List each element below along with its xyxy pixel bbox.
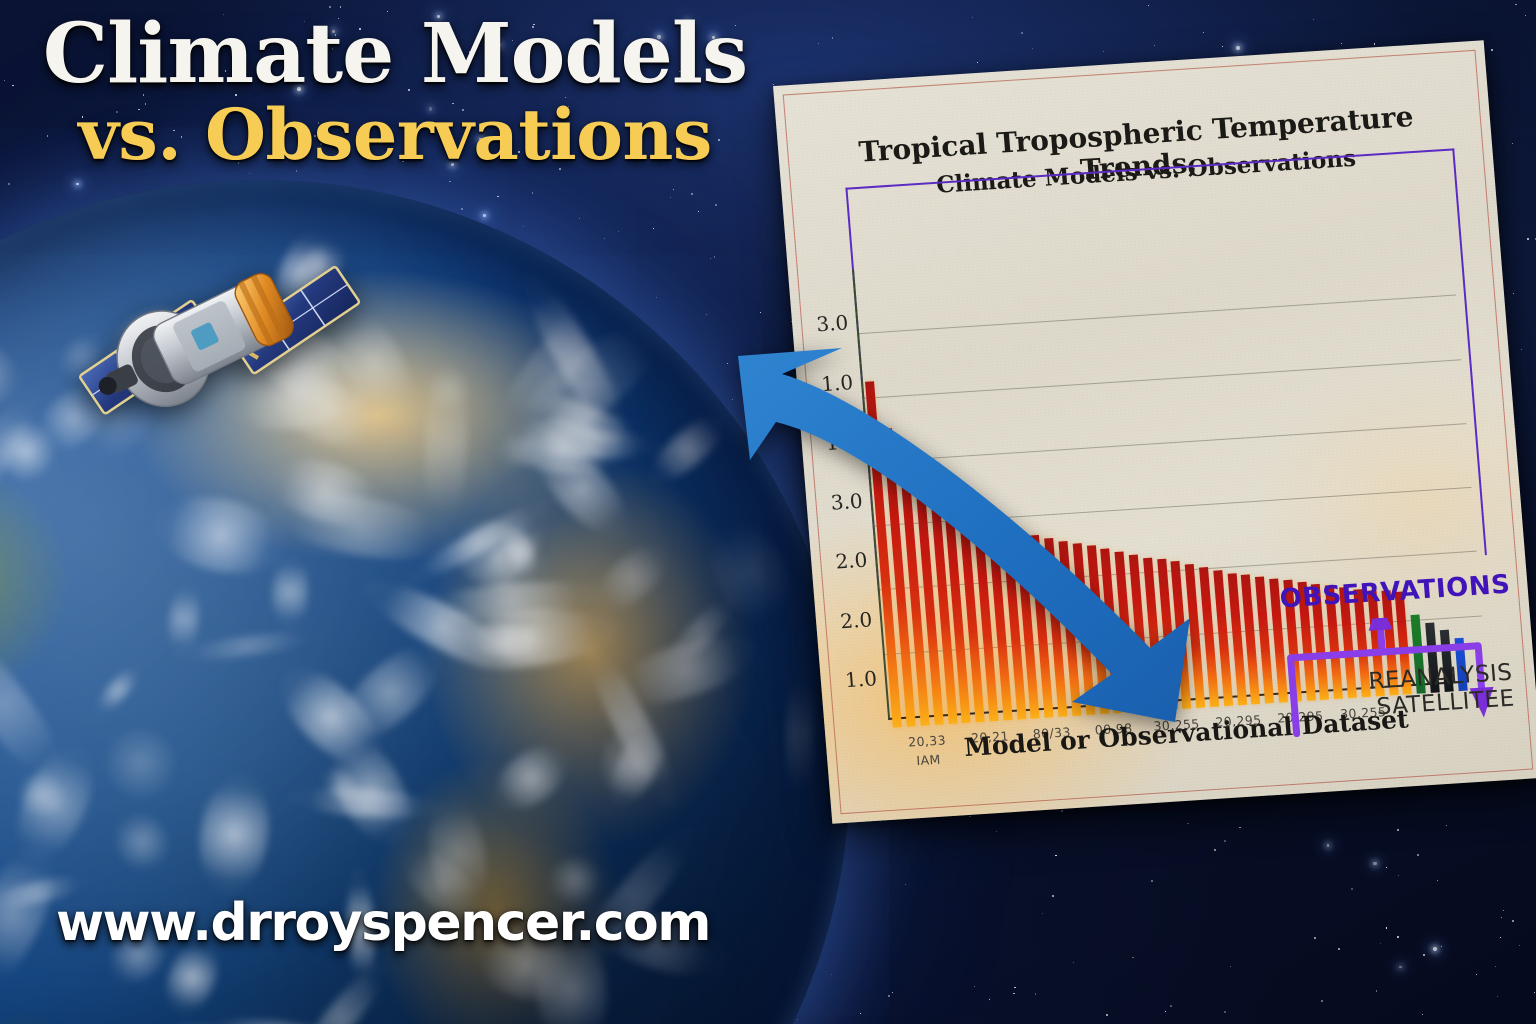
poster-headline: Climate Models vs. Observations bbox=[0, 14, 790, 172]
satellite-icon bbox=[62, 190, 362, 480]
poster-canvas: Climate Models vs. Observations www.drro… bbox=[0, 0, 1536, 1024]
right-dataset-labels: REANALYSIS SATELLITEE bbox=[1368, 660, 1516, 722]
website-url[interactable]: www.drroyspencer.com bbox=[56, 893, 710, 953]
headline-line-2: vs. Observations bbox=[0, 98, 790, 172]
headline-line-1: Climate Models bbox=[0, 14, 790, 94]
downward-trend-arrow-icon bbox=[720, 330, 1240, 730]
